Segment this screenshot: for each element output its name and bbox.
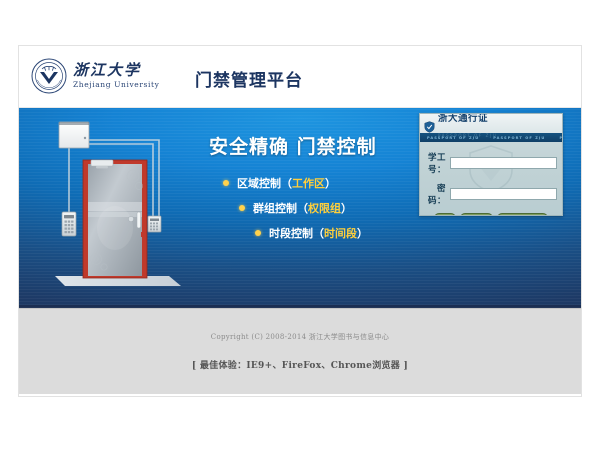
shield-icon	[424, 118, 435, 130]
bullet-dot-icon	[239, 205, 245, 211]
access-control-door-illustration	[41, 116, 201, 306]
field-row-password: 密 码：	[428, 182, 554, 206]
brand-logo[interactable]: 浙江大学 Zhejiang University	[31, 58, 159, 94]
feature-tail: ）	[357, 225, 368, 241]
hero-banner: 安全精确 门禁控制 区域控制（工作区） 群组控制（权限组） 时段控制（时间段）	[19, 108, 581, 308]
passport-strip-text: PASSPORT OF ZJU	[486, 136, 552, 140]
banner-copy: 安全精确 门禁控制 区域控制（工作区） 群组控制（权限组） 时段控制（时间段）	[209, 132, 377, 250]
login-title-cn: 浙大通行证	[438, 113, 488, 124]
feature-highlight: 权限组	[308, 200, 341, 216]
feature-highlight: 时间段	[324, 225, 357, 241]
site-header: 浙江大学 Zhejiang University 门禁管理平台	[19, 46, 581, 108]
login-panel-header: 浙大通行证 PASSPORT OF ZJU	[420, 114, 562, 133]
passport-strip-text: PASSPORT OF ZJU	[552, 136, 562, 140]
zju-seal-icon	[31, 58, 67, 94]
app-page: 浙江大学 Zhejiang University 门禁管理平台	[18, 45, 582, 397]
page-title: 门禁管理平台	[195, 66, 303, 91]
login-panel: 浙大通行证 PASSPORT OF ZJU PASSPORT OF ZJU PA…	[419, 113, 563, 216]
browser-support-note: [ 最佳体验：IE9+、FireFox、Chrome浏览器 ]	[192, 358, 408, 371]
feature-text: 群组控制（	[253, 200, 308, 216]
feature-text: 区域控制（	[237, 175, 292, 191]
copyright-text: Copyright (C) 2008-2014 浙江大学图书与信息中心	[211, 332, 389, 342]
campus-card-login-button[interactable]: 校园卡密码登录	[497, 213, 548, 216]
list-item: 时段控制（时间段）	[255, 225, 377, 241]
feature-tail: ）	[341, 200, 352, 216]
feature-tail: ）	[325, 175, 336, 191]
field-row-userid: 学工号：	[428, 151, 554, 175]
university-name: 浙江大学 Zhejiang University	[73, 63, 159, 89]
bullet-dot-icon	[223, 180, 229, 186]
university-name-en: Zhejiang University	[73, 81, 159, 89]
userid-label: 学工号：	[428, 151, 446, 175]
list-item: 区域控制（工作区）	[223, 175, 377, 191]
banner-headline: 安全精确 门禁控制	[209, 132, 377, 159]
userid-input[interactable]	[450, 157, 557, 169]
passport-strip-text: PASSPORT OF ZJU	[420, 136, 486, 140]
login-button[interactable]: 登录	[434, 213, 456, 216]
feature-text: 时段控制（	[269, 225, 324, 241]
login-button-row: 登录 登录添加 校园卡密码登录	[428, 213, 554, 216]
login-add-button[interactable]: 登录添加	[460, 213, 493, 216]
password-input[interactable]	[450, 188, 557, 200]
list-item: 群组控制（权限组）	[239, 200, 377, 216]
login-form: 学工号： 密 码： 登录 登录添加 校园卡密码登录	[420, 142, 562, 216]
bullet-dot-icon	[255, 230, 261, 236]
feature-highlight: 工作区	[292, 175, 325, 191]
site-footer: Copyright (C) 2008-2014 浙江大学图书与信息中心 [ 最佳…	[19, 308, 581, 394]
password-label: 密 码：	[428, 182, 446, 206]
university-name-cn: 浙江大学	[73, 63, 159, 78]
feature-list: 区域控制（工作区） 群组控制（权限组） 时段控制（时间段）	[209, 175, 377, 241]
